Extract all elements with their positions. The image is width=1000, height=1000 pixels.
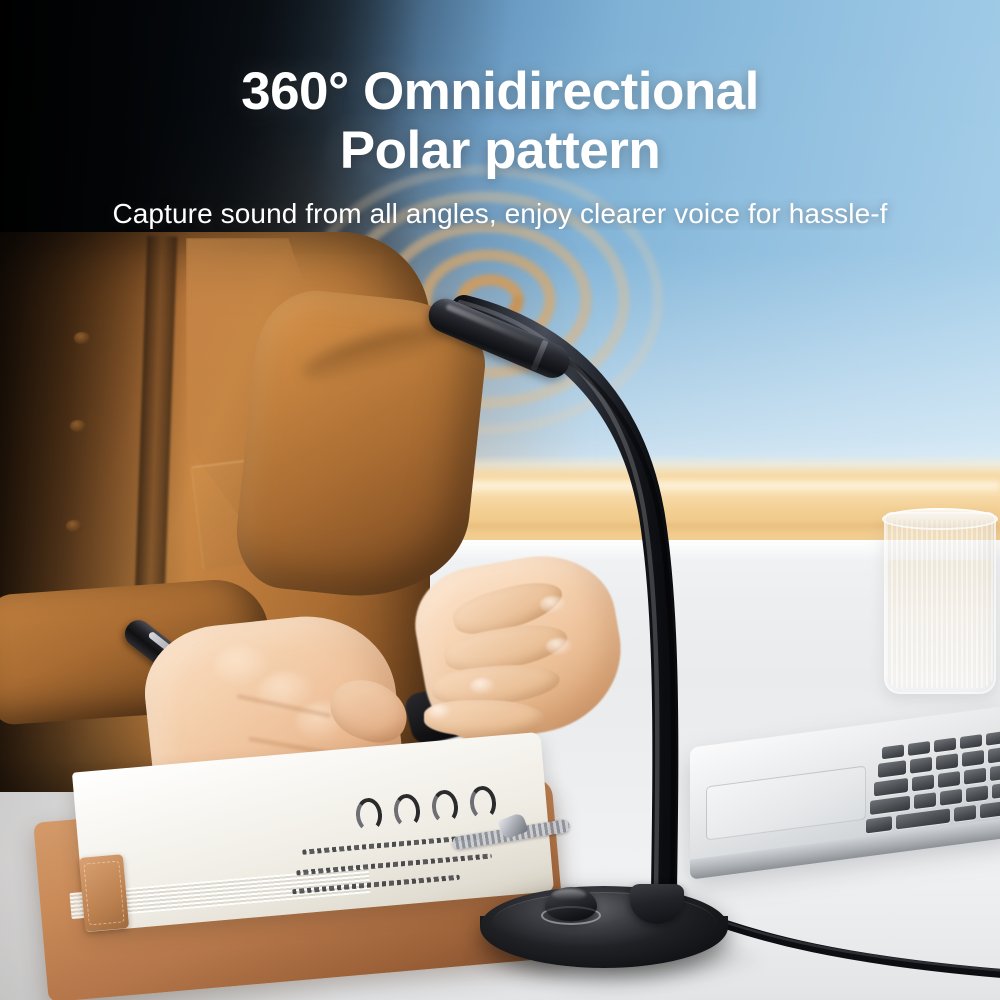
gooseneck-arm (420, 280, 740, 910)
headline-line-2: Polar pattern (0, 121, 1000, 180)
product-banner-scene: 360° Omnidirectional Polar pattern Captu… (0, 0, 1000, 1000)
control-knob-ring (541, 906, 601, 925)
banner-text: 360° Omnidirectional Polar pattern Captu… (0, 0, 1000, 280)
subheadline: Capture sound from all angles, enjoy cle… (0, 198, 1000, 230)
headline-line-1: 360° Omnidirectional (0, 0, 1000, 121)
page-title: 360° Omnidirectional Polar pattern (0, 0, 1000, 180)
control-knob-highlight (552, 889, 586, 900)
